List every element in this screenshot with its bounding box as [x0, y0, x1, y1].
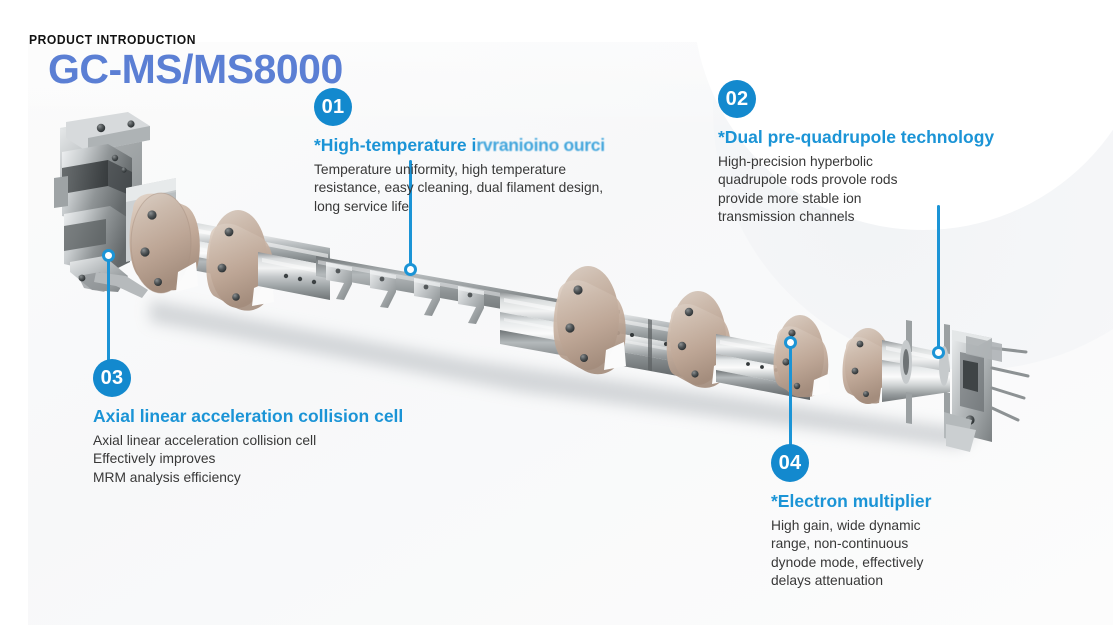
callout-body-04: High gain, wide dynamic range, non-conti…: [771, 517, 1051, 590]
leader-marker-03: [102, 249, 115, 262]
ceramic-spacer-ring-5: [774, 315, 831, 397]
ceramic-spacer-ring-3: [554, 266, 626, 374]
callout-04: 04 *Electron multiplier High gain, wide …: [771, 444, 1051, 590]
callout-body-03: Axial linear acceleration collision cell…: [93, 432, 493, 487]
callout-heading-01-garbled: rvranioino ourci: [476, 135, 604, 155]
callout-badge-02[interactable]: 02: [718, 80, 756, 118]
callout-badge-04[interactable]: 04: [771, 444, 809, 482]
callout-heading-02: *Dual pre-quadrupole technology: [718, 127, 1048, 148]
callout-01: 01 *High-temperature irvranioino ourci T…: [314, 88, 664, 216]
leader-marker-01: [404, 263, 417, 276]
callout-badge-03[interactable]: 03: [93, 359, 131, 397]
callout-heading-01: *High-temperature irvranioino ourci: [314, 135, 664, 156]
callout-heading-03: Axial linear acceleration collision cell: [93, 406, 493, 427]
ceramic-spacer-ring-1: [130, 193, 200, 293]
leader-marker-04: [784, 336, 797, 349]
eyebrow-label: PRODUCT INTRODUCTION: [29, 32, 196, 47]
callout-heading-01-clear: *High-temperature i: [314, 135, 476, 155]
slide-canvas: PRODUCT INTRODUCTION GC-MS/MS8000 01 *Hi…: [0, 0, 1113, 625]
callout-02: 02 *Dual pre-quadrupole technology High-…: [718, 80, 1048, 226]
callout-body-02: High-precision hyperbolic quadrupole rod…: [718, 153, 1048, 226]
callout-body-01: Temperature uniformity, high temperature…: [314, 161, 664, 216]
leader-marker-02: [932, 346, 945, 359]
callout-badge-01[interactable]: 01: [314, 88, 352, 126]
page-title: GC-MS/MS8000: [48, 46, 343, 93]
callout-heading-04: *Electron multiplier: [771, 491, 1051, 512]
callout-03: 03 Axial linear acceleration collision c…: [93, 359, 493, 487]
leader-line-02: [937, 205, 940, 355]
